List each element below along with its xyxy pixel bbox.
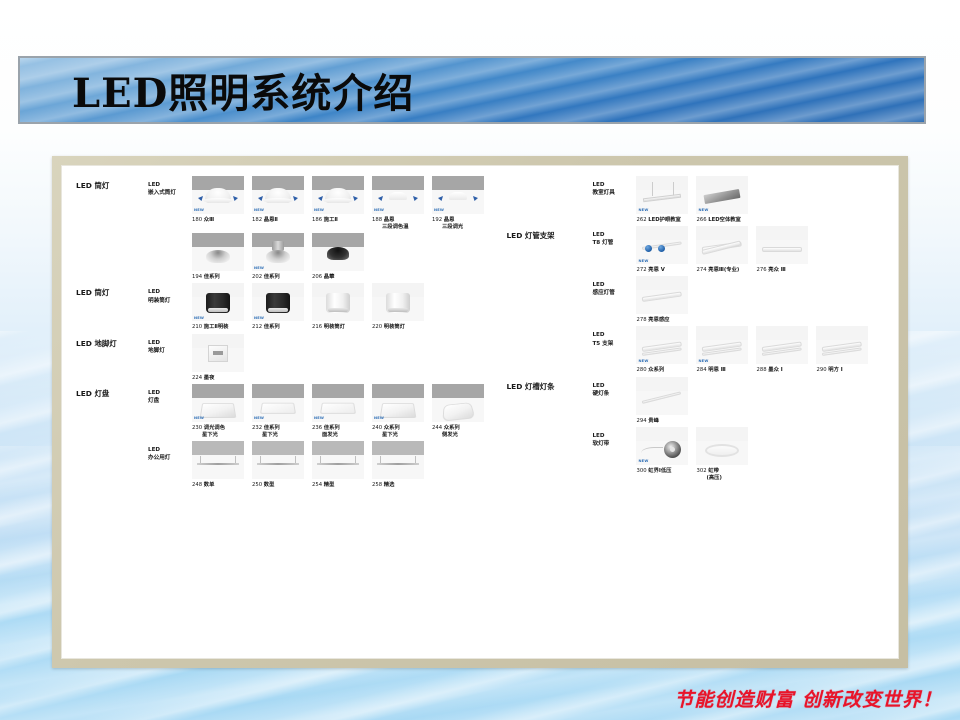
product-caption: 276 亮众 Ⅲ xyxy=(756,267,808,274)
downlight-ring-art xyxy=(263,198,293,203)
product-thumbnail[interactable] xyxy=(192,334,244,372)
product-caption: 248 数单 xyxy=(192,482,244,489)
product-number: 192 xyxy=(432,217,444,223)
new-badge: NEW xyxy=(194,209,204,213)
product-caption: 186 施工Ⅱ xyxy=(312,217,364,224)
product-caption: 210 施工Ⅱ明装 xyxy=(192,324,244,331)
product-subname: 星下光 xyxy=(192,432,244,439)
product-name: 墨夜 xyxy=(204,375,215,381)
product-name: 众系列 xyxy=(384,425,400,431)
product-list: 278 亮恩感应 xyxy=(636,276,688,324)
product-name: 亮恩感应 xyxy=(648,317,669,323)
reflector-cone-art xyxy=(266,250,290,263)
product-number: 272 xyxy=(636,267,648,273)
product-name: 精型 xyxy=(324,482,335,488)
subcategory-line-1: LED xyxy=(148,181,192,189)
product-item[interactable]: 194 佳系列 xyxy=(192,233,244,281)
product-thumbnail[interactable]: NEW xyxy=(192,176,244,214)
product-name: 施工Ⅱ明装 xyxy=(204,324,229,330)
product-item[interactable]: 290 明方 Ⅰ xyxy=(816,326,868,374)
product-thumbnail[interactable] xyxy=(312,441,364,479)
subcategory-label: LED硬灯条 xyxy=(592,377,636,398)
cylinder-downlight-art xyxy=(266,293,290,313)
product-name: 晶恩Ⅱ xyxy=(264,217,278,223)
subcategory-line-2: 办公用灯 xyxy=(148,454,192,462)
product-number: 212 xyxy=(252,324,264,330)
product-list: 194 佳系列NEW202 佳系列206 晶華 xyxy=(192,233,364,281)
new-badge: NEW xyxy=(254,317,264,321)
subcategory-line-2: 教室灯具 xyxy=(592,189,636,197)
product-number: 294 xyxy=(636,418,648,424)
category-label: LED 地脚灯 xyxy=(76,334,148,348)
subcategory-label xyxy=(148,233,192,238)
product-item[interactable]: NEW232 佳系列星下光 xyxy=(252,384,304,439)
lens-art xyxy=(388,308,408,312)
category-label: LED 灯盘 xyxy=(76,384,148,398)
suspension-wire-art xyxy=(260,456,261,463)
product-list: 294 贵峰 xyxy=(636,377,688,425)
step-light-slot-art xyxy=(213,351,223,355)
product-number: 250 xyxy=(252,482,264,488)
product-item[interactable]: 254 精型 xyxy=(312,441,364,489)
product-name: 佳系列 xyxy=(324,425,340,431)
category-group: LED教室灯具NEW262 LED护眼教室NEW266 LED空体教室 xyxy=(506,176,892,224)
product-caption: 220 明装筒灯 xyxy=(372,324,424,331)
product-number: 288 xyxy=(756,367,768,373)
product-subname: 星下光 xyxy=(372,432,424,439)
category-label xyxy=(76,441,148,446)
product-caption: 262 LED护眼教室 xyxy=(636,217,688,224)
downlight-ring-art xyxy=(323,198,353,203)
product-name: 数型 xyxy=(264,482,275,488)
new-badge: NEW xyxy=(254,417,264,421)
product-thumbnail[interactable] xyxy=(696,427,748,465)
product-number: 224 xyxy=(192,375,204,381)
product-item[interactable]: NEW192 晶恩三段调光 xyxy=(432,176,484,231)
subcategory-label: LED教室灯具 xyxy=(592,176,636,197)
product-thumbnail[interactable] xyxy=(756,226,808,264)
left-column: LED 筒灯LED嵌入式筒灯NEW180 众ⅢNEW182 晶恩ⅡNEW186 … xyxy=(68,176,496,654)
product-item[interactable]: NEW240 众系列星下光 xyxy=(372,384,424,439)
product-caption: 254 精型 xyxy=(312,482,364,489)
category-group: LED办公用灯248 数单250 数型254 精型258 精选 xyxy=(76,441,496,489)
product-thumbnail[interactable] xyxy=(312,233,364,271)
product-thumbnail[interactable] xyxy=(756,326,808,364)
subcategory-label: LED灯盘 xyxy=(148,384,192,405)
product-thumbnail[interactable] xyxy=(636,276,688,314)
category-group: LED 灯槽灯条LED硬灯条294 贵峰 xyxy=(506,377,892,425)
product-caption: 224 墨夜 xyxy=(192,375,244,382)
footer-slogan: 节能创造财富 创新改变世界！ xyxy=(674,685,942,712)
slide-canvas: LED照明系统介绍 LED 筒灯LED嵌入式筒灯NEW180 众ⅢNEW182 … xyxy=(0,0,960,720)
product-subname: (高压) xyxy=(696,475,748,482)
subcategory-line-1: LED xyxy=(592,331,636,339)
category-label: LED 筒灯 xyxy=(76,176,148,190)
new-badge: NEW xyxy=(638,209,648,213)
product-list: NEW300 虹界Ⅰ低压302 虹带(高压) xyxy=(636,427,748,482)
product-number: 274 xyxy=(696,267,708,273)
product-thumbnail[interactable] xyxy=(816,326,868,364)
product-number: 180 xyxy=(192,217,204,223)
product-item[interactable]: NEW230 调光调色星下光 xyxy=(192,384,244,439)
product-list: NEW272 亮恩 V274 亮恩Ⅲ(专业)276 亮众 Ⅲ xyxy=(636,226,808,274)
product-thumbnail[interactable]: NEW xyxy=(252,384,304,422)
strip-coil-art xyxy=(705,444,739,457)
product-caption: 290 明方 Ⅰ xyxy=(816,367,868,374)
product-number: 220 xyxy=(372,324,384,330)
linear-fixture-art xyxy=(317,463,359,465)
product-name: 晶恩 xyxy=(384,217,395,223)
product-item[interactable]: 278 亮恩感应 xyxy=(636,276,688,324)
product-caption: 300 虹界Ⅰ低压 xyxy=(636,468,688,475)
product-caption: 188 晶恩三段调色温 xyxy=(372,217,424,231)
product-number: 290 xyxy=(816,367,828,373)
product-item[interactable]: NEW210 施工Ⅱ明装 xyxy=(192,283,244,331)
product-caption: 206 晶華 xyxy=(312,274,364,281)
product-number: 258 xyxy=(372,482,384,488)
product-item[interactable]: NEW202 佳系列 xyxy=(252,233,304,281)
product-item[interactable]: NEW266 LED空体教室 xyxy=(696,176,748,224)
subcategory-label: LED感应灯管 xyxy=(592,276,636,297)
product-name: 精选 xyxy=(384,482,395,488)
subcategory-label: LED软灯带 xyxy=(592,427,636,448)
product-caption: 272 亮恩 V xyxy=(636,267,688,274)
product-thumbnail[interactable]: NEW xyxy=(252,233,304,271)
product-number: 280 xyxy=(636,367,648,373)
product-item[interactable]: NEW180 众Ⅲ xyxy=(192,176,244,231)
product-name: 佳系列 xyxy=(204,274,220,280)
product-number: 232 xyxy=(252,425,264,431)
product-item[interactable]: NEW236 佳系列面发光 xyxy=(312,384,364,439)
category-group: LED 筒灯LED嵌入式筒灯NEW180 众ⅢNEW182 晶恩ⅡNEW186 … xyxy=(76,176,496,231)
downlight-flat-art xyxy=(449,192,467,200)
product-number: 300 xyxy=(636,468,648,474)
product-thumbnail[interactable] xyxy=(192,233,244,271)
product-caption: 180 众Ⅲ xyxy=(192,217,244,224)
right-column: LED教室灯具NEW262 LED护眼教室NEW266 LED空体教室LED 灯… xyxy=(496,176,892,654)
product-item[interactable]: NEW284 明恩 Ⅲ xyxy=(696,326,748,374)
catalog-columns: LED 筒灯LED嵌入式筒灯NEW180 众ⅢNEW182 晶恩ⅡNEW186 … xyxy=(62,166,898,658)
subcategory-label: LEDT8 灯管 xyxy=(592,226,636,247)
product-name: 佳系列 xyxy=(264,425,280,431)
product-number: 182 xyxy=(252,217,264,223)
product-item[interactable]: 302 虹带(高压) xyxy=(696,427,748,482)
new-badge: NEW xyxy=(638,360,648,364)
product-item[interactable]: NEW186 施工Ⅱ xyxy=(312,176,364,231)
subcategory-line-1: LED xyxy=(592,382,636,390)
new-badge: NEW xyxy=(314,417,324,421)
new-badge: NEW xyxy=(374,417,384,421)
product-thumbnail[interactable] xyxy=(252,441,304,479)
linear-fixture-art xyxy=(197,463,239,465)
product-thumbnail[interactable] xyxy=(312,283,364,321)
product-item[interactable]: 220 明装筒灯 xyxy=(372,283,424,331)
product-list: NEW210 施工Ⅱ明装NEW212 佳系列216 明装筒灯220 明装筒灯 xyxy=(192,283,424,331)
cylinder-downlight-art xyxy=(326,293,350,313)
category-label: LED 灯槽灯条 xyxy=(506,377,592,391)
product-caption: 288 墨众 Ⅰ xyxy=(756,367,808,374)
product-thumbnail[interactable] xyxy=(636,377,688,415)
product-item[interactable]: NEW188 晶恩三段调色温 xyxy=(372,176,424,231)
title-banner: LED照明系统介绍 xyxy=(18,56,926,124)
new-badge: NEW xyxy=(698,360,708,364)
product-caption: 250 数型 xyxy=(252,482,304,489)
product-thumbnail[interactable] xyxy=(192,441,244,479)
catalog-board: LED 筒灯LED嵌入式筒灯NEW180 众ⅢNEW182 晶恩ⅡNEW186 … xyxy=(61,165,899,659)
product-number: 278 xyxy=(636,317,648,323)
page-title: LED照明系统介绍 xyxy=(72,61,414,119)
product-number: 302 xyxy=(696,468,708,474)
new-badge: NEW xyxy=(638,460,648,464)
product-caption: 240 众系列星下光 xyxy=(372,425,424,439)
subcategory-line-2: 地脚灯 xyxy=(148,347,192,355)
product-thumbnail[interactable]: NEW xyxy=(636,427,688,465)
product-item[interactable]: 258 精选 xyxy=(372,441,424,489)
subcategory-label: LED办公用灯 xyxy=(148,441,192,462)
product-number: 186 xyxy=(312,217,324,223)
product-item[interactable]: NEW212 佳系列 xyxy=(252,283,304,331)
product-name: 佳系列 xyxy=(264,274,280,280)
subcategory-line-1: LED xyxy=(592,281,636,289)
subcategory-line-1: LED xyxy=(148,389,192,397)
product-thumbnail[interactable]: NEW xyxy=(192,384,244,422)
product-subname: 三段调光 xyxy=(432,224,484,231)
product-thumbnail[interactable]: NEW xyxy=(696,176,748,214)
product-item[interactable]: 288 墨众 Ⅰ xyxy=(756,326,808,374)
product-name: 明装筒灯 xyxy=(324,324,345,330)
subcategory-line-2: 灯盘 xyxy=(148,397,192,405)
product-item[interactable]: 224 墨夜 xyxy=(192,334,244,382)
subcategory-line-1: LED xyxy=(148,446,192,454)
product-caption: 274 亮恩Ⅲ(专业) xyxy=(696,267,748,274)
category-group: LED 筒灯LED明装筒灯NEW210 施工Ⅱ明装NEW212 佳系列216 明… xyxy=(76,283,496,331)
product-name: 亮众 Ⅲ xyxy=(768,267,785,273)
product-thumbnail[interactable] xyxy=(372,283,424,321)
product-number: 262 xyxy=(636,217,648,223)
product-thumbnail[interactable]: NEW xyxy=(252,176,304,214)
tube-art xyxy=(762,247,802,252)
product-number: 248 xyxy=(192,482,204,488)
flex-strip-art xyxy=(641,447,663,457)
product-number: 216 xyxy=(312,324,324,330)
product-thumbnail[interactable]: NEW xyxy=(432,176,484,214)
product-number: 266 xyxy=(696,217,708,223)
product-caption: 236 佳系列面发光 xyxy=(312,425,364,439)
panel-light-art xyxy=(320,402,356,413)
product-subname: 星下光 xyxy=(252,432,304,439)
product-caption: 194 佳系列 xyxy=(192,274,244,281)
product-thumbnail[interactable]: NEW xyxy=(636,226,688,264)
product-list: NEW262 LED护眼教室NEW266 LED空体教室 xyxy=(636,176,748,224)
product-thumbnail[interactable]: NEW xyxy=(192,283,244,321)
subcategory-line-2: T5 支架 xyxy=(592,340,636,348)
product-name: LED护眼教室 xyxy=(648,217,681,223)
product-name: 明恩 Ⅲ xyxy=(708,367,725,373)
product-name: 众系列 xyxy=(648,367,664,373)
subcategory-line-1: LED xyxy=(592,181,636,189)
product-number: 254 xyxy=(312,482,324,488)
panel-light-art xyxy=(380,403,417,418)
product-name: 晶華 xyxy=(324,274,335,280)
subcategory-line-2: 软灯带 xyxy=(592,440,636,448)
product-caption: 278 亮恩感应 xyxy=(636,317,688,324)
subcategory-line-1: LED xyxy=(592,231,636,239)
product-item[interactable]: 244 众系列侧发光 xyxy=(432,384,484,439)
product-caption: 258 精选 xyxy=(372,482,424,489)
product-list: 248 数单250 数型254 精型258 精选 xyxy=(192,441,424,489)
subcategory-label: LED明装筒灯 xyxy=(148,283,192,304)
product-name: 明方 Ⅰ xyxy=(828,367,842,373)
suspension-wire-art xyxy=(295,456,296,463)
subcategory-label: LEDT5 支架 xyxy=(592,326,636,347)
dark-reflector-art xyxy=(327,247,349,260)
product-item[interactable]: 250 数型 xyxy=(252,441,304,489)
product-list: NEW180 众ⅢNEW182 晶恩ⅡNEW186 施工ⅡNEW188 晶恩三段… xyxy=(192,176,484,231)
product-item[interactable]: NEW280 众系列 xyxy=(636,326,688,374)
category-label: LED 灯管支架 xyxy=(506,226,592,240)
subcategory-line-2: 硬灯条 xyxy=(592,390,636,398)
linear-fixture-art xyxy=(377,463,419,465)
product-name: 虹界Ⅰ低压 xyxy=(648,468,671,474)
product-subname: 侧发光 xyxy=(432,432,484,439)
product-name: 晶恩 xyxy=(444,217,455,223)
product-number: 244 xyxy=(432,425,444,431)
product-item[interactable]: NEW182 晶恩Ⅱ xyxy=(252,176,304,231)
product-caption: 216 明装筒灯 xyxy=(312,324,364,331)
product-item[interactable]: 274 亮恩Ⅲ(专业) xyxy=(696,226,748,274)
product-thumbnail[interactable]: NEW xyxy=(312,384,364,422)
new-badge: NEW xyxy=(254,209,264,213)
subcategory-line-1: LED xyxy=(148,339,192,347)
category-group: LED 地脚灯LED地脚灯224 墨夜 xyxy=(76,334,496,382)
product-subname: 三段调色温 xyxy=(372,224,424,231)
product-item[interactable]: NEW300 虹界Ⅰ低压 xyxy=(636,427,688,482)
new-badge: NEW xyxy=(374,209,384,213)
new-badge: NEW xyxy=(194,417,204,421)
subcategory-line-1: LED xyxy=(148,288,192,296)
panel-light-art xyxy=(260,402,296,413)
linear-fixture-art xyxy=(257,463,299,465)
subcategory-line-2: 明装筒灯 xyxy=(148,297,192,305)
product-thumbnail[interactable] xyxy=(372,441,424,479)
product-item[interactable]: 294 贵峰 xyxy=(636,377,688,425)
catalog-frame: LED 筒灯LED嵌入式筒灯NEW180 众ⅢNEW182 晶恩ⅡNEW186 … xyxy=(52,156,908,668)
product-thumbnail[interactable]: NEW xyxy=(312,176,364,214)
category-label: LED 筒灯 xyxy=(76,283,148,297)
downlight-ring-art xyxy=(203,198,233,203)
product-number: 206 xyxy=(312,274,324,280)
category-group: 194 佳系列NEW202 佳系列206 晶華 xyxy=(76,233,496,281)
product-item[interactable]: NEW262 LED护眼教室 xyxy=(636,176,688,224)
product-name: LED空体教室 xyxy=(708,217,741,223)
lens-art xyxy=(268,308,288,312)
new-badge: NEW xyxy=(194,317,204,321)
product-thumbnail[interactable]: NEW xyxy=(636,176,688,214)
suspension-wire-art xyxy=(380,456,381,463)
category-label xyxy=(76,233,148,238)
category-label xyxy=(506,326,592,331)
product-thumbnail[interactable]: NEW xyxy=(372,384,424,422)
category-group: LED 灯盘LED灯盘NEW230 调光调色星下光NEW232 佳系列星下光NE… xyxy=(76,384,496,439)
product-thumbnail[interactable] xyxy=(432,384,484,422)
product-name: 调光调色 xyxy=(204,425,225,431)
product-item[interactable]: 216 明装筒灯 xyxy=(312,283,364,331)
cylinder-downlight-art xyxy=(386,293,410,313)
category-group: LEDT5 支架NEW280 众系列NEW284 明恩 Ⅲ288 墨众 Ⅰ290… xyxy=(506,326,892,374)
product-name: 亮恩Ⅲ(专业) xyxy=(708,267,739,273)
suspension-wire-art xyxy=(355,456,356,463)
product-thumbnail[interactable]: NEW xyxy=(636,326,688,364)
suspension-wire-art xyxy=(235,456,236,463)
product-number: 194 xyxy=(192,274,204,280)
subcategory-label: LED嵌入式筒灯 xyxy=(148,176,192,197)
product-caption: 302 虹带(高压) xyxy=(696,468,748,482)
product-caption: 232 佳系列星下光 xyxy=(252,425,304,439)
new-badge: NEW xyxy=(434,209,444,213)
subcategory-line-2: 感应灯管 xyxy=(592,289,636,297)
product-name: 墨众 Ⅰ xyxy=(768,367,782,373)
reflector-cone-art xyxy=(206,250,230,263)
cylinder-downlight-art xyxy=(206,293,230,313)
category-group: LED感应灯管278 亮恩感应 xyxy=(506,276,892,324)
product-thumbnail[interactable] xyxy=(696,226,748,264)
product-caption: 230 调光调色星下光 xyxy=(192,425,244,439)
product-caption: 212 佳系列 xyxy=(252,324,304,331)
product-list: NEW230 调光调色星下光NEW232 佳系列星下光NEW236 佳系列面发光… xyxy=(192,384,484,439)
product-item[interactable]: 248 数单 xyxy=(192,441,244,489)
lens-art xyxy=(328,308,348,312)
product-number: 210 xyxy=(192,324,204,330)
product-name: 贵峰 xyxy=(648,418,659,424)
category-group: LED 灯管支架LEDT8 灯管NEW272 亮恩 V274 亮恩Ⅲ(专业)27… xyxy=(506,226,892,274)
product-list: 224 墨夜 xyxy=(192,334,244,382)
product-caption: 244 众系列侧发光 xyxy=(432,425,484,439)
product-name: 众系列 xyxy=(444,425,460,431)
category-group: LED软灯带NEW300 虹界Ⅰ低压302 虹带(高压) xyxy=(506,427,892,482)
product-item[interactable]: NEW272 亮恩 V xyxy=(636,226,688,274)
new-badge: NEW xyxy=(254,267,264,271)
product-caption: 294 贵峰 xyxy=(636,418,688,425)
product-caption: 280 众系列 xyxy=(636,367,688,374)
subcategory-line-1: LED xyxy=(592,432,636,440)
product-name: 明装筒灯 xyxy=(384,324,405,330)
product-name: 数单 xyxy=(204,482,215,488)
product-item[interactable]: 276 亮众 Ⅲ xyxy=(756,226,808,274)
downlight-flat-art xyxy=(389,192,407,200)
product-number: 188 xyxy=(372,217,384,223)
product-caption: 284 明恩 Ⅲ xyxy=(696,367,748,374)
product-item[interactable]: 206 晶華 xyxy=(312,233,364,281)
product-thumbnail[interactable]: NEW xyxy=(372,176,424,214)
product-number: 236 xyxy=(312,425,324,431)
product-caption: 192 晶恩三段调光 xyxy=(432,217,484,231)
product-name: 亮恩 V xyxy=(648,267,665,273)
product-caption: 266 LED空体教室 xyxy=(696,217,748,224)
product-number: 202 xyxy=(252,274,264,280)
product-thumbnail[interactable]: NEW xyxy=(696,326,748,364)
product-list: NEW280 众系列NEW284 明恩 Ⅲ288 墨众 Ⅰ290 明方 Ⅰ xyxy=(636,326,868,374)
product-number: 230 xyxy=(192,425,204,431)
subcategory-line-2: T8 灯管 xyxy=(592,239,636,247)
product-subname: 面发光 xyxy=(312,432,364,439)
product-thumbnail[interactable]: NEW xyxy=(252,283,304,321)
new-badge: NEW xyxy=(638,260,648,264)
product-number: 284 xyxy=(696,367,708,373)
product-name: 众Ⅲ xyxy=(204,217,214,223)
suspension-wire-art xyxy=(415,456,416,463)
new-badge: NEW xyxy=(698,209,708,213)
suspension-wire-art xyxy=(200,456,201,463)
